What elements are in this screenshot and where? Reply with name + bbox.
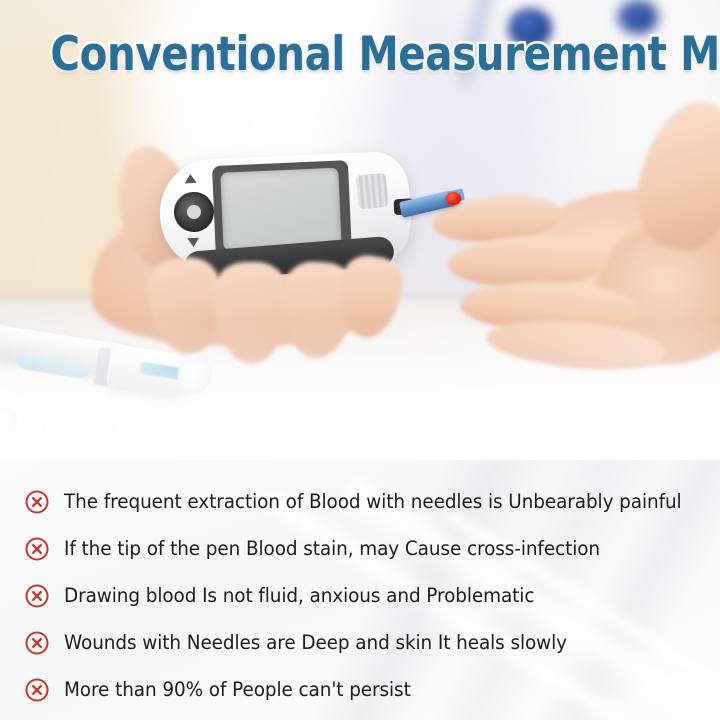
meter-arrow-up-icon (184, 174, 196, 184)
circle-x-icon (24, 583, 50, 609)
circle-x-icon (24, 536, 50, 562)
circle-x-icon (24, 677, 50, 703)
list-item-label: Drawing blood Is not fluid, anxious and … (64, 584, 534, 608)
list-item-label: More than 90% of People can't persist (64, 678, 411, 702)
list-item: Drawing blood Is not fluid, anxious and … (24, 580, 562, 612)
circle-x-icon (24, 489, 50, 515)
photo-white-fade (0, 320, 720, 470)
promo-poster: Conventional Measurement Methods The fre… (0, 0, 720, 720)
blood-drop (446, 192, 461, 205)
list-item-label: If the tip of the pen Blood stain, may C… (64, 537, 600, 561)
page-title: Conventional Measurement Methods (50, 28, 669, 82)
meter-grip-ridges (356, 173, 389, 210)
list-item-label: The frequent extraction of Blood with ne… (64, 490, 682, 514)
list-item: The frequent extraction of Blood with ne… (24, 486, 718, 518)
list-item: Wounds with Needles are Deep and skin It… (24, 627, 596, 659)
meter-arrow-down-icon (187, 238, 199, 248)
circle-x-icon (24, 630, 50, 656)
list-item: If the tip of the pen Blood stain, may C… (24, 533, 631, 565)
list-item: More than 90% of People can't persist (24, 674, 431, 706)
meter-dial-button (173, 191, 215, 233)
list-item-label: Wounds with Needles are Deep and skin It… (64, 631, 567, 655)
glucose-meter (158, 151, 413, 272)
drawbacks-panel: The frequent extraction of Blood with ne… (0, 460, 720, 720)
meter-lcd-screen (220, 168, 341, 251)
